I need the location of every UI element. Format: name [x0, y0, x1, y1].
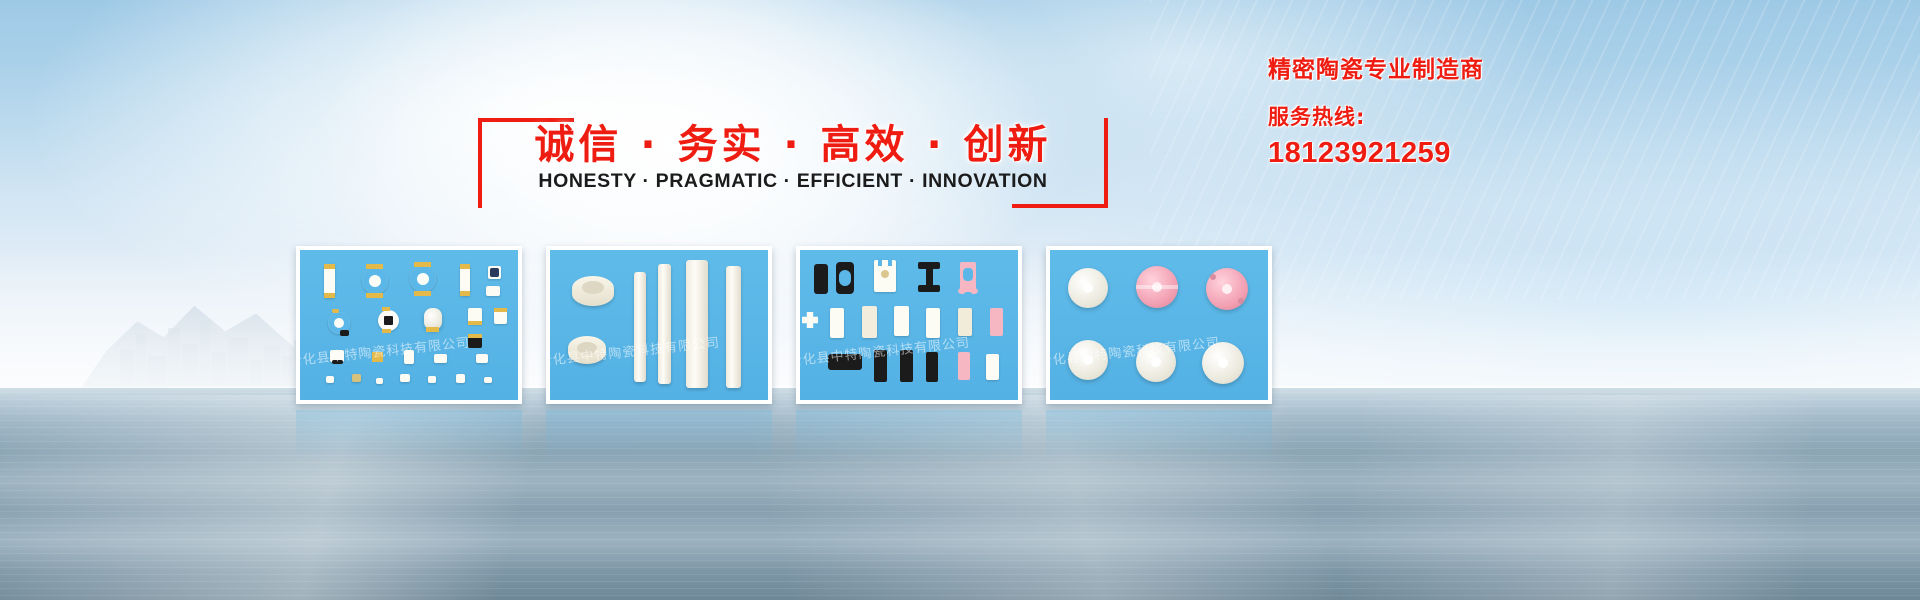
- ceramic-part-contact: [324, 293, 335, 298]
- ceramic-chip-contact: [494, 308, 507, 312]
- ceramic-ring-contact: [414, 262, 431, 267]
- ceramic-ring-contact: [382, 307, 390, 311]
- ceramic-part-black: [874, 350, 887, 382]
- ceramic-disc-slot: [1136, 285, 1178, 289]
- ceramic-part-slot: [839, 270, 851, 286]
- ceramic-part-contact: [324, 264, 335, 269]
- ceramic-disc-pin: [1210, 274, 1216, 280]
- ceramic-part-black: [814, 264, 828, 294]
- ceramic-block: [926, 308, 940, 338]
- ceramic-ring-hole: [582, 281, 604, 294]
- ceramic-part-black: [900, 350, 913, 382]
- ceramic-part-pink: [958, 352, 970, 380]
- ceramic-ring-contact: [340, 330, 349, 336]
- ceramic-ring-contact: [414, 291, 431, 296]
- ceramic-block: [986, 354, 999, 380]
- ceramic-disc-hole: [1083, 283, 1093, 293]
- ceramic-part-contact: [460, 264, 470, 269]
- ceramic-ring-contact: [366, 264, 383, 269]
- ceramic-chip: [476, 354, 488, 363]
- ceramic-disc-hole: [1083, 355, 1093, 365]
- ceramic-ring-contact: [382, 329, 391, 333]
- ceramic-block-pink: [990, 308, 1003, 336]
- ceramic-chip: [404, 350, 414, 364]
- ceramic-ring-contact: [332, 309, 339, 313]
- contact-block: 精密陶瓷专业制造商 服务热线: 18123921259: [1268, 50, 1688, 170]
- hotline-label: 服务热线:: [1268, 101, 1688, 131]
- ceramic-block: [894, 306, 909, 336]
- hotline-number[interactable]: 18123921259: [1268, 137, 1688, 170]
- ceramic-chip: [494, 310, 507, 324]
- ceramic-chip: [372, 352, 383, 362]
- ceramic-chip: [326, 376, 334, 383]
- ceramic-block: [830, 308, 844, 338]
- ceramic-part-hole: [881, 270, 889, 278]
- product-panel-ceramic-parts[interactable]: 新化县中特陶瓷科技有限公司: [796, 246, 1022, 404]
- product-panel-ceramic-tubes[interactable]: 新化县中特陶瓷科技有限公司: [546, 246, 772, 404]
- ceramic-disc-hole: [1222, 284, 1232, 294]
- ceramic-ring-contact: [366, 293, 383, 298]
- slogan-english: HONESTY · PRAGMATIC · EFFICIENT · INNOVA…: [478, 170, 1108, 193]
- ceramic-part-notch: [878, 258, 882, 266]
- ceramic-chip: [456, 374, 465, 383]
- ceramic-chip: [486, 286, 500, 296]
- ceramic-block: [862, 306, 877, 338]
- ceramic-ring-hole: [577, 342, 597, 354]
- company-tagline: 精密陶瓷专业制造商: [1268, 50, 1688, 84]
- ceramic-tube-large: [686, 260, 708, 388]
- ceramic-chip: [352, 374, 361, 382]
- ceramic-chip: [428, 376, 436, 383]
- ceramic-part-pink: [970, 288, 978, 294]
- ceramic-part-black: [926, 352, 938, 382]
- ceramic-chip-core: [490, 268, 499, 277]
- ceramic-disc-pin: [1238, 298, 1244, 304]
- ceramic-part-notch: [888, 258, 892, 266]
- ceramic-part-black: [926, 267, 933, 287]
- ceramic-part-contact: [426, 327, 439, 332]
- ceramic-disc-hole: [1151, 357, 1161, 367]
- ceramic-chip: [484, 377, 492, 383]
- ceramic-rod: [658, 264, 671, 384]
- ceramic-ring-hole: [362, 268, 388, 294]
- ceramic-part-contact: [460, 291, 470, 296]
- ground-light-reflection: [0, 388, 1920, 600]
- ceramic-chip-contact: [332, 360, 343, 364]
- ceramic-rod: [634, 272, 646, 382]
- ceramic-chip-contact: [468, 321, 482, 325]
- ceramic-chip-contact: [468, 334, 482, 338]
- hero-banner: 诚信 · 务实 · 高效 · 创新 HONESTY · PRAGMATIC · …: [0, 0, 1920, 600]
- ceramic-part-pink: [958, 288, 966, 294]
- ceramic-chip: [400, 374, 410, 382]
- ceramic-part-black: [918, 285, 940, 292]
- ceramic-ring-hole: [410, 266, 436, 292]
- product-panel-row: 新化县中特陶瓷科技有限公司 新化县中特陶瓷科技有限公司: [296, 246, 1536, 408]
- ceramic-disc-hole: [1218, 358, 1228, 368]
- slogan-chinese: 诚信 · 务实 · 高效 · 创新: [478, 112, 1108, 170]
- ceramic-part-black: [828, 354, 862, 370]
- ceramic-part-slot: [963, 268, 973, 281]
- slogan-block: 诚信 · 务实 · 高效 · 创新 HONESTY · PRAGMATIC · …: [478, 112, 1108, 202]
- product-panel-ceramic-discs[interactable]: 新化县中特陶瓷科技有限公司: [1046, 246, 1272, 404]
- ceramic-ring-core: [384, 316, 393, 325]
- ceramic-block: [958, 308, 972, 336]
- product-panel-chip-components[interactable]: 新化县中特陶瓷科技有限公司: [296, 246, 522, 404]
- ceramic-rod: [726, 266, 741, 388]
- ceramic-chip: [434, 354, 447, 363]
- ceramic-chip: [376, 378, 383, 384]
